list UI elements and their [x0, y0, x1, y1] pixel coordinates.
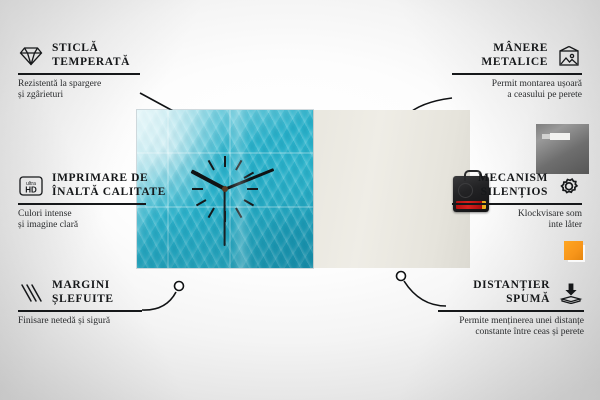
callout-title: SILENȚIOS	[478, 186, 548, 200]
hour-marker	[208, 160, 243, 218]
callout-subtitle: Finisare netedă și sigură	[18, 316, 142, 328]
connector-dot-polished-edges	[175, 282, 184, 291]
hour-marker	[208, 160, 243, 218]
metal-hanger-plate	[536, 124, 589, 174]
callout-subtitle: constante între ceas și perete	[438, 327, 584, 339]
callout-subtitle: a ceasului pe perete	[452, 90, 582, 102]
foam-spacer-pad	[564, 241, 583, 260]
polished-edges-icon	[18, 282, 44, 304]
callout-subtitle: inte låter	[452, 220, 582, 232]
callout-high-quality-print: ultra HD IMPRIMARE DE ÎNALTĂ CALITATE Cu…	[18, 172, 146, 232]
callout-tempered-glass: STICLĂ TEMPERATĂ Rezistentă la spargere …	[18, 42, 140, 102]
callout-title: MÂNERE	[481, 42, 548, 56]
callout-title: MECANISM	[478, 172, 548, 186]
hour-marker	[192, 188, 258, 190]
glass-seam	[229, 110, 231, 268]
down-arrow-block-icon	[558, 282, 584, 304]
callout-title: METALICE	[481, 56, 548, 70]
callout-title: STICLĂ	[52, 42, 130, 56]
divider	[18, 310, 142, 312]
diamond-icon	[18, 45, 44, 67]
hour-marker	[224, 156, 226, 222]
callout-subtitle: Culori intense	[18, 209, 146, 221]
hour-hand	[191, 169, 226, 190]
svg-text:HD: HD	[25, 185, 37, 194]
callout-title: MARGINI	[52, 279, 114, 293]
callout-metal-handles: MÂNERE METALICE Permit montarea ușoară a…	[452, 42, 582, 102]
callout-title: IMPRIMARE DE	[52, 172, 166, 186]
hour-marker	[224, 156, 226, 222]
product-image	[137, 110, 470, 268]
divider	[18, 73, 140, 75]
callout-subtitle: Permite menținerea unei distanțe	[438, 316, 584, 328]
callout-title: DISTANȚIER	[473, 279, 550, 293]
callout-title: ȘLEFUITE	[52, 293, 114, 307]
connector-dot-foam-spacer	[397, 272, 406, 281]
callout-title: TEMPERATĂ	[52, 56, 130, 70]
divider	[452, 73, 582, 75]
hour-marker	[196, 172, 254, 207]
ultra-hd-icon: ultra HD	[18, 175, 44, 197]
glass-seam	[137, 206, 313, 208]
divider	[452, 203, 582, 205]
hour-marker	[208, 160, 243, 218]
hour-marker	[196, 172, 254, 207]
callout-subtitle: Permit montarea ușoară	[452, 79, 582, 91]
hour-marker	[196, 172, 254, 207]
hour-marker	[208, 160, 243, 218]
divider	[438, 310, 584, 312]
gear-icon	[556, 175, 582, 197]
second-hand	[224, 189, 226, 246]
picture-frame-icon	[556, 45, 582, 67]
callout-foam-spacer: DISTANȚIER SPUMĂ Permite menținerea unei…	[438, 279, 584, 339]
infographic-canvas: STICLĂ TEMPERATĂ Rezistentă la spargere …	[0, 0, 600, 400]
clock-back-panel	[312, 110, 470, 268]
callout-polished-edges: MARGINI ȘLEFUITE Finisare netedă și sigu…	[18, 279, 142, 327]
glass-seam	[137, 152, 313, 154]
hour-marker	[192, 188, 258, 190]
minute-hand	[224, 168, 273, 190]
callout-subtitle: și imagine clară	[18, 220, 146, 232]
callout-subtitle: Klockvisare som	[452, 209, 582, 221]
hour-marker	[196, 172, 254, 207]
callout-subtitle: Rezistentă la spargere	[18, 79, 140, 91]
divider	[18, 203, 146, 205]
callout-subtitle: și zgârieturi	[18, 90, 140, 102]
callout-title: ÎNALTĂ CALITATE	[52, 186, 166, 200]
hands-center-cap	[222, 186, 228, 192]
callout-silent-mechanism: MECANISM SILENȚIOS Klockvisare som inte …	[452, 172, 582, 232]
callout-title: SPUMĂ	[473, 293, 550, 307]
glass-seam	[167, 110, 169, 268]
connector-line-polished-edges	[142, 292, 176, 310]
